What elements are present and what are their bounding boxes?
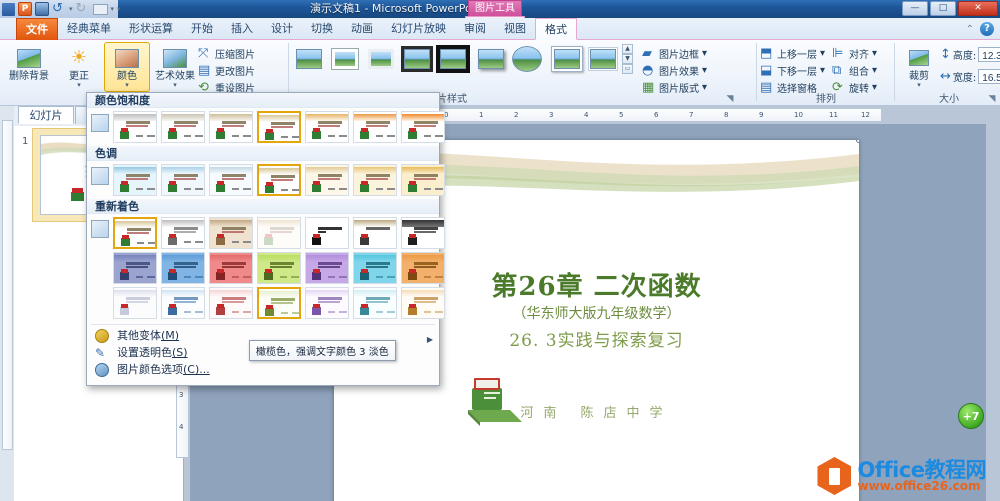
corrections-icon: ☀: [57, 45, 101, 71]
saturation-gallery[interactable]: [87, 108, 439, 146]
selection-pane-icon: ▤: [760, 80, 774, 94]
bring-forward-label: 上移一层: [777, 46, 817, 61]
print-dropdown-caret[interactable]: ▾: [111, 5, 115, 13]
maximize-button[interactable]: □: [930, 1, 956, 16]
picture-color-options-menu-item[interactable]: 图片颜色选项(C)...: [87, 361, 439, 378]
slide-number: 1: [22, 136, 28, 147]
height-input[interactable]: [978, 47, 1000, 62]
picture-styles-scroll-up[interactable]: ▲: [622, 44, 633, 54]
group-divider: [894, 43, 895, 101]
color-caret[interactable]: ▾: [105, 82, 149, 89]
saturation-swatch-2[interactable]: [209, 111, 253, 143]
bring-forward-caret[interactable]: ▾: [820, 48, 825, 59]
color-button[interactable]: 颜色 ▾: [104, 42, 150, 92]
green-plus-badge[interactable]: +7: [958, 403, 984, 429]
powerpoint-app-icon[interactable]: P: [18, 2, 32, 16]
picture-style-2[interactable]: [328, 44, 362, 74]
more-variations-accel: (M): [161, 329, 179, 342]
picture-style-9[interactable]: [586, 44, 620, 74]
ribbon-group-size: 裁剪 ▾ ↕ 高度: ⇳ ↔ 宽度: ⇳ 大小 ◥: [898, 40, 1000, 106]
picture-effects-icon: ◓: [642, 63, 656, 77]
recolor-accent3-light[interactable]: [209, 287, 253, 319]
watermark-title: Office教程网: [857, 460, 986, 480]
height-icon: ↕: [940, 47, 951, 62]
tab-slideshow[interactable]: 幻灯片放映: [382, 18, 455, 40]
handle-ne[interactable]: [856, 140, 859, 143]
saturation-row[interactable]: [113, 111, 439, 143]
group-button[interactable]: ⧉ 组合 ▾: [832, 62, 877, 78]
picture-style-1[interactable]: [292, 44, 326, 74]
recolor-row-1[interactable]: [113, 217, 439, 249]
recolor-swatch-6-dark[interactable]: [401, 217, 445, 249]
set-transparent-color-accel: (S): [172, 346, 188, 359]
recolor-accent5-dark[interactable]: [305, 252, 349, 284]
arrange-group-label: 排列: [760, 93, 892, 106]
recolor-swatch-4-blackwhite[interactable]: [305, 217, 349, 249]
swatch-tooltip: 橄榄色，强调文字颜色 3 淡色: [249, 340, 396, 361]
picture-effects-button[interactable]: ◓ 图片效果 ▾: [642, 62, 707, 78]
minimize-button[interactable]: —: [902, 1, 928, 16]
bring-forward-icon: ⬒: [760, 46, 774, 60]
recolor-accent6-dark[interactable]: [353, 252, 397, 284]
picture-color-options-accel: (C)...: [183, 363, 210, 376]
tone-swatch-0[interactable]: [113, 164, 157, 196]
tab-design[interactable]: 设计: [262, 18, 302, 40]
recolor-swatch-5[interactable]: [353, 217, 397, 249]
recolor-accent6-light[interactable]: [353, 287, 397, 319]
picture-style-5[interactable]: [436, 44, 470, 74]
saturation-swatch-3-selected[interactable]: [257, 111, 301, 143]
ribbon-group-arrange: ⬒ 上移一层 ▾ ⬓ 下移一层 ▾ ▤ 选择窗格 ⊫ 对齐 ▾ ⧉ 组合 ▾: [760, 40, 892, 106]
recolor-accent2-dark[interactable]: [161, 252, 205, 284]
tone-gallery[interactable]: [87, 161, 439, 199]
artistic-effects-caret[interactable]: ▾: [153, 82, 197, 89]
recolor-accent5-light[interactable]: [305, 287, 349, 319]
artistic-effects-icon: [153, 45, 197, 71]
office-hexagon-logo: [817, 457, 851, 495]
recolor-accent7-dark[interactable]: [401, 252, 445, 284]
width-input[interactable]: [978, 69, 1000, 84]
outer-vertical-ruler: [2, 120, 13, 450]
align-button[interactable]: ⊫ 对齐 ▾: [832, 45, 877, 61]
tab-review[interactable]: 审阅: [455, 18, 495, 40]
picture-border-caret[interactable]: ▾: [702, 48, 707, 59]
picture-border-icon: ▰: [642, 46, 656, 60]
recolor-accent1-dark[interactable]: [113, 252, 157, 284]
undo-icon[interactable]: ↺: [52, 2, 66, 16]
hruler-tick: 6: [654, 111, 658, 119]
width-icon: ↔: [940, 69, 951, 84]
hruler-tick: 1: [479, 111, 483, 119]
picture-effects-label: 图片效果: [659, 63, 699, 78]
saturation-swatch-5[interactable]: [353, 111, 397, 143]
recolor-swatch-1-grayscale[interactable]: [161, 217, 205, 249]
recolor-accent1-light[interactable]: [113, 287, 157, 319]
picture-color-options-label: 图片颜色选项: [117, 363, 183, 376]
window-controls[interactable]: — □ ✕: [902, 1, 998, 16]
size-group-label: 大小: [898, 93, 1000, 106]
tab-classic-menu[interactable]: 经典菜单: [58, 18, 120, 40]
tone-swatch-5[interactable]: [353, 164, 397, 196]
tone-row[interactable]: [113, 164, 439, 196]
tone-icon: [91, 167, 109, 185]
ribbon-tabs[interactable]: 文件 经典菜单 形状运算 开始 插入 设计 切换 动画 幻灯片放映 审阅 视图 …: [16, 18, 577, 40]
saturation-swatch-4[interactable]: [305, 111, 349, 143]
saturation-swatch-1[interactable]: [161, 111, 205, 143]
picture-effects-caret[interactable]: ▾: [702, 65, 707, 76]
remove-background-icon: [7, 45, 51, 71]
section-header-saturation: 颜色饱和度: [87, 93, 439, 108]
tab-view[interactable]: 视图: [495, 18, 535, 40]
slide-footer-text[interactable]: 河南 陈店中学: [334, 402, 859, 421]
tab-format[interactable]: 格式: [535, 18, 577, 40]
picture-styles-scroll-down[interactable]: ▼: [622, 54, 633, 64]
tab-transitions[interactable]: 切换: [302, 18, 342, 40]
rotate-caret[interactable]: ▾: [872, 82, 877, 93]
compress-pictures-label: 压缩图片: [215, 46, 255, 61]
tab-home[interactable]: 开始: [182, 18, 222, 40]
saturation-icon: [91, 114, 109, 132]
rotate-icon: ⟳: [832, 80, 846, 94]
width-label: 宽度:: [953, 69, 976, 84]
group-label: 组合: [849, 63, 869, 78]
more-variations-label: 其他变体: [117, 329, 161, 342]
compress-pictures-button[interactable]: ⤧ 压缩图片: [198, 45, 255, 61]
picture-style-4[interactable]: [400, 44, 434, 74]
tab-shape-ops[interactable]: 形状运算: [120, 18, 182, 40]
recolor-accent2-light[interactable]: [161, 287, 205, 319]
window-system-icon[interactable]: [2, 3, 15, 16]
window-title: 演示文稿1 - Microsoft PowerPoint: [118, 0, 678, 18]
change-picture-icon: ▤: [198, 63, 212, 77]
hruler-tick: 7: [689, 111, 693, 119]
set-transparent-color-icon: ✎: [95, 346, 109, 360]
picture-tools-context-label: 图片工具: [468, 0, 522, 16]
picture-layout-icon: ▦: [642, 80, 656, 94]
customize-qat-caret[interactable]: ▾: [117, 5, 121, 13]
picture-height-field[interactable]: ↕ 高度: ⇳: [940, 47, 1000, 62]
corrections-button[interactable]: ☀ 更正 ▾: [56, 42, 102, 92]
hruler-tick: 12: [861, 111, 870, 119]
recolor-accent3-olive-light-selected[interactable]: [257, 287, 301, 319]
recolor-accent3-dark[interactable]: [209, 252, 253, 284]
recolor-icon: [91, 220, 109, 238]
hruler-tick: 8: [724, 111, 728, 119]
remove-background-button[interactable]: 删除背景: [6, 42, 52, 92]
picture-layout-label: 图片版式: [659, 80, 699, 95]
tone-swatch-6[interactable]: [401, 164, 445, 196]
picture-styles-more[interactable]: ▭: [622, 64, 633, 74]
crop-button[interactable]: 裁剪 ▾: [898, 42, 940, 92]
recolor-swatch-3-washout[interactable]: [257, 217, 301, 249]
height-label: 高度:: [953, 47, 976, 62]
artistic-effects-button[interactable]: 艺术效果 ▾: [152, 42, 198, 92]
recolor-swatch-2-sepia[interactable]: [209, 217, 253, 249]
tab-animations[interactable]: 动画: [342, 18, 382, 40]
watermark-url: www.office26.com: [857, 480, 986, 493]
picture-layout-caret[interactable]: ▾: [702, 82, 707, 93]
tone-swatch-1[interactable]: [161, 164, 205, 196]
menu-divider: [91, 324, 435, 325]
tab-insert[interactable]: 插入: [222, 18, 262, 40]
remove-background-label: 删除背景: [7, 71, 51, 82]
corrections-caret[interactable]: ▾: [57, 82, 101, 89]
save-icon[interactable]: [35, 2, 49, 16]
send-backward-label: 下移一层: [777, 63, 817, 78]
align-icon: ⊫: [832, 46, 846, 60]
recolor-row-3[interactable]: [113, 287, 439, 319]
section-header-recolor: 重新着色: [87, 199, 439, 214]
tab-slides[interactable]: 幻灯片: [18, 106, 74, 124]
vruler-tick: 3: [179, 391, 183, 399]
send-backward-icon: ⬓: [760, 63, 774, 77]
hruler-tick: 3: [549, 111, 553, 119]
crop-caret[interactable]: ▾: [899, 82, 939, 89]
tab-file[interactable]: 文件: [16, 18, 58, 40]
vruler-tick: 4: [179, 423, 183, 431]
hruler-tick: 2: [514, 111, 518, 119]
tone-swatch-3-selected[interactable]: [257, 164, 301, 196]
help-icon[interactable]: ?: [980, 22, 994, 36]
picture-color-options-icon: [95, 363, 109, 377]
ribbon-help-row[interactable]: ⌃ ?: [966, 22, 994, 36]
set-transparent-color-label: 设置透明色: [117, 346, 172, 359]
group-divider: [756, 43, 757, 101]
saturation-swatch-0[interactable]: [113, 111, 157, 143]
redo-icon[interactable]: ↻: [76, 2, 90, 16]
book-illustration[interactable]: [464, 358, 528, 428]
recolor-accent4-dark[interactable]: [257, 252, 301, 284]
group-icon: ⧉: [832, 63, 846, 77]
group-caret[interactable]: ▾: [872, 65, 877, 76]
picture-style-3[interactable]: [364, 44, 398, 74]
picture-style-7-oval[interactable]: [510, 44, 544, 74]
hruler-tick: 10: [794, 111, 803, 119]
picture-width-field[interactable]: ↔ 宽度: ⇳: [940, 69, 1000, 84]
crop-icon: [899, 45, 939, 71]
send-backward-caret[interactable]: ▾: [820, 65, 825, 76]
picture-style-6[interactable]: [474, 44, 508, 74]
size-dialog-launcher[interactable]: ◥: [986, 93, 998, 105]
recolor-row-2[interactable]: [113, 252, 439, 284]
watermark: Office教程网 www.office26.com: [817, 457, 986, 495]
hruler-tick: 9: [759, 111, 763, 119]
powerpoint-window: 演示文稿1 - Microsoft PowerPoint P ↺ ▾ ↻ ▾ ▾…: [0, 0, 1000, 501]
collapse-ribbon-icon[interactable]: ⌃: [966, 24, 974, 35]
change-picture-label: 更改图片: [215, 63, 255, 78]
change-picture-button[interactable]: ▤ 更改图片: [198, 62, 255, 78]
picture-styles-scroll[interactable]: ▲ ▼ ▭: [622, 44, 633, 74]
hruler-tick: 11: [829, 111, 838, 119]
picture-layout-button[interactable]: ▦ 图片版式 ▾: [642, 79, 707, 95]
compress-pictures-icon: ⤧: [198, 46, 212, 60]
more-variations-icon: [95, 329, 109, 343]
picture-border-label: 图片边框: [659, 46, 699, 61]
recolor-gallery[interactable]: [87, 214, 439, 322]
print-preview-icon[interactable]: [93, 4, 108, 15]
tone-swatch-4[interactable]: [305, 164, 349, 196]
align-label: 对齐: [849, 46, 869, 61]
undo-dropdown-caret[interactable]: ▾: [69, 5, 73, 13]
recolor-accent7-light[interactable]: [401, 287, 445, 319]
send-backward-button[interactable]: ⬓ 下移一层 ▾: [760, 62, 825, 78]
bring-forward-button[interactable]: ⬒ 上移一层 ▾: [760, 45, 825, 61]
tone-swatch-2[interactable]: [209, 164, 253, 196]
section-header-tone: 色调: [87, 146, 439, 161]
align-caret[interactable]: ▾: [872, 48, 877, 59]
saturation-swatch-6[interactable]: [401, 111, 445, 143]
picture-border-button[interactable]: ▰ 图片边框 ▾: [642, 45, 707, 61]
recolor-swatch-0-selected[interactable]: [113, 217, 157, 249]
hruler-tick: 5: [619, 111, 623, 119]
picture-styles-dialog-launcher[interactable]: ◥: [724, 93, 736, 105]
color-icon: [105, 45, 149, 71]
close-button[interactable]: ✕: [958, 1, 998, 16]
quick-access-toolbar[interactable]: P ↺ ▾ ↻ ▾ ▾: [0, 0, 121, 18]
hruler-tick: 4: [584, 111, 588, 119]
picture-style-8[interactable]: [550, 44, 584, 74]
